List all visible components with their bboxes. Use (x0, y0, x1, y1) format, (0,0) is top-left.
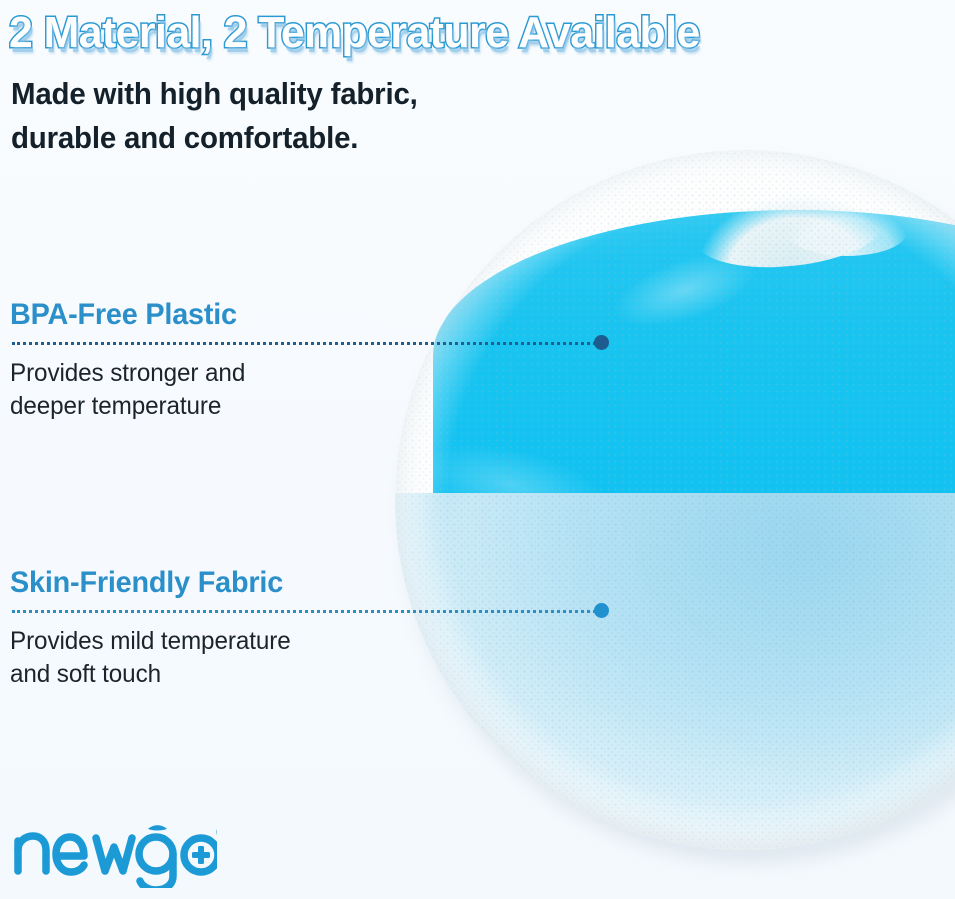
product-image (395, 150, 955, 850)
leader-endpoint-dot (594, 603, 609, 618)
page-subtitle: Made with high quality fabric, durable a… (11, 72, 418, 160)
page-subtitle-line-1: Made with high quality fabric, (11, 72, 418, 116)
newgo-logo-icon: R (12, 818, 217, 888)
leaf-swoosh-icon (148, 825, 167, 830)
feature-title: Skin-Friendly Fabric (10, 566, 605, 600)
feature-description-line-1: Provides mild temperature (10, 625, 611, 658)
page-title: 2 Material, 2 Temperature Available (9, 8, 700, 58)
feature-callout-skin-friendly-fabric: Skin-Friendly Fabric Provides mild tempe… (10, 566, 630, 692)
leader-line-group (10, 338, 630, 348)
brand-logo: R newgo (12, 818, 217, 880)
leader-line-group (10, 606, 630, 616)
gel-wave-notch-secondary (787, 208, 907, 256)
leader-endpoint-dot (594, 335, 609, 350)
page-subtitle-line-2: durable and comfortable. (11, 116, 418, 160)
feature-description-line-2: deeper temperature (10, 390, 611, 423)
leader-dotted-line (12, 342, 602, 348)
gel-pack-disc (395, 150, 955, 850)
feature-title: BPA-Free Plastic (10, 298, 605, 332)
feature-description-line-2: and soft touch (10, 658, 611, 691)
infographic-canvas: 2 Material, 2 Temperature Available Made… (0, 0, 955, 899)
leader-dotted-line (12, 610, 602, 616)
feature-callout-bpa-free-plastic: BPA-Free Plastic Provides stronger and d… (10, 298, 630, 424)
plus-icon (192, 846, 210, 864)
feature-description: Provides mild temperature and soft touch (10, 625, 611, 692)
feature-description: Provides stronger and deeper temperature (10, 357, 611, 424)
feature-description-line-1: Provides stronger and (10, 357, 611, 390)
